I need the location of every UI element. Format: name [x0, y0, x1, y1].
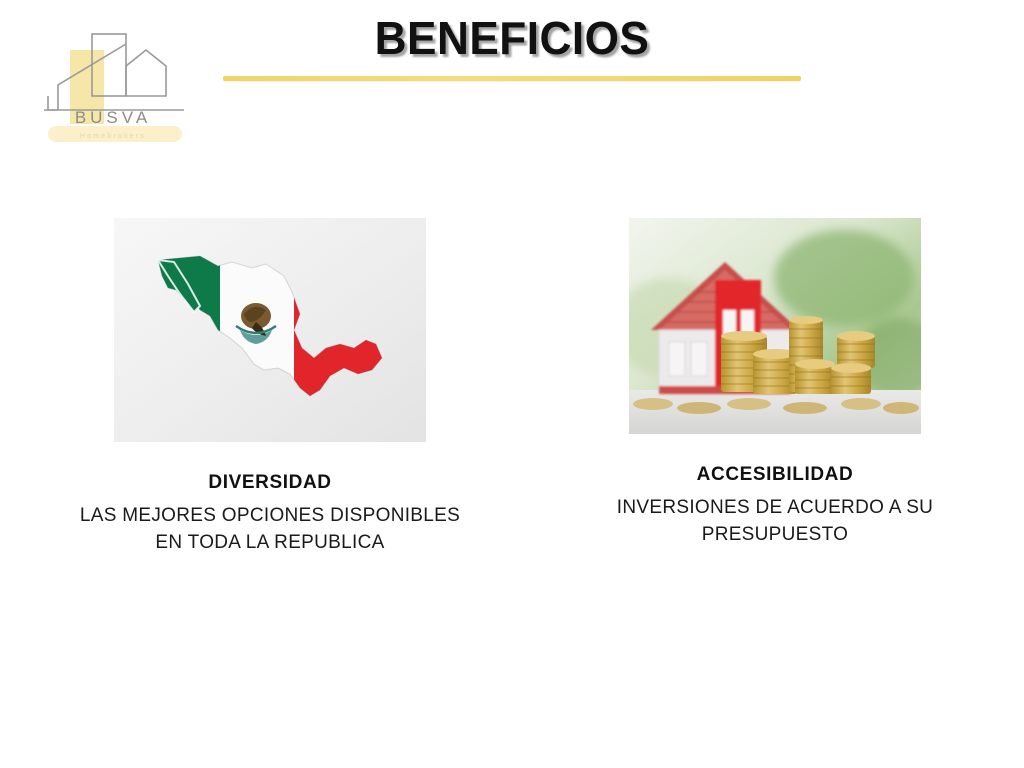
benefit-body-line-1: LAS MEJORES OPCIONES DISPONIBLES — [20, 503, 520, 530]
title-underline-rule — [223, 76, 801, 81]
benefit-body-line-2: EN TODA LA REPUBLICA — [20, 530, 520, 557]
benefit-caption: ACCESIBILIDAD INVERSIONES DE ACUERDO A S… — [545, 464, 1005, 549]
coat-of-arms-emblem — [234, 300, 278, 344]
logo-tagline-text: Homebrokers — [80, 133, 146, 140]
house-and-coins-image — [629, 218, 921, 434]
house-and-coins-illustration — [629, 218, 921, 434]
logo-brand-text: BUSVA — [75, 108, 151, 127]
slide-header: BENEFICIOS — [200, 14, 824, 81]
mexico-map-illustration — [114, 218, 426, 442]
benefit-card-accesibilidad: ACCESIBILIDAD INVERSIONES DE ACUERDO A S… — [545, 218, 1005, 549]
benefit-caption: DIVERSIDAD LAS MEJORES OPCIONES DISPONIB… — [20, 472, 520, 557]
building-outline-icon: BUSVA Homebrokers — [34, 22, 202, 148]
page-title: BENEFICIOS — [212, 14, 811, 62]
benefit-body-line-2: PRESUPUESTO — [545, 522, 1005, 549]
benefit-title: ACCESIBILIDAD — [545, 464, 1005, 486]
slide-canvas: BUSVA Homebrokers BENEFICIOS — [0, 0, 1024, 768]
brand-logo[interactable]: BUSVA Homebrokers — [34, 22, 202, 148]
benefit-body-line-1: INVERSIONES DE ACUERDO A SU — [545, 495, 1005, 522]
mexico-flag-map-image — [114, 218, 426, 442]
benefit-card-diversidad: DIVERSIDAD LAS MEJORES OPCIONES DISPONIB… — [20, 218, 520, 557]
benefit-title: DIVERSIDAD — [20, 472, 520, 494]
